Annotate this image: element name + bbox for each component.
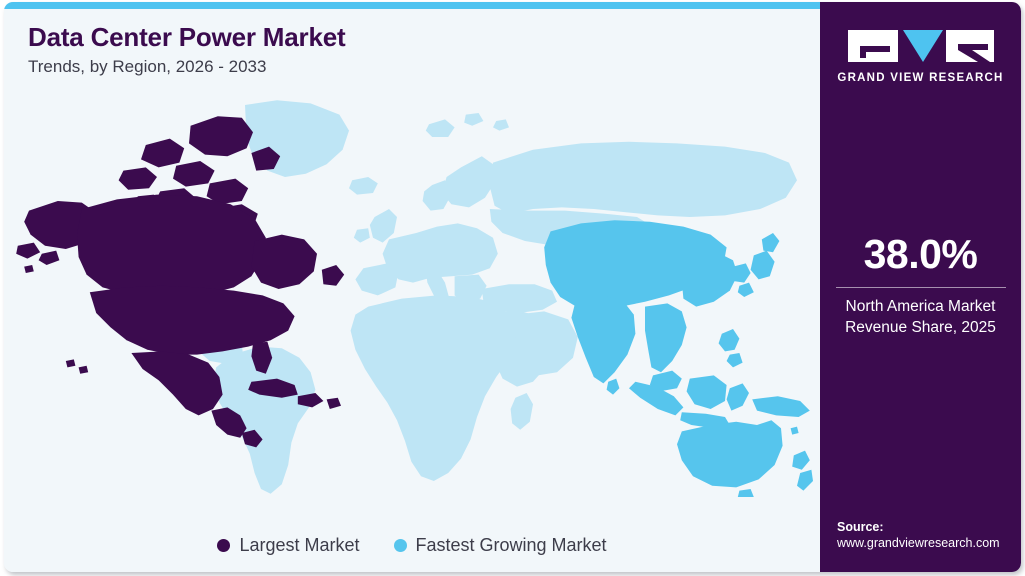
brand-name: GRAND VIEW RESEARCH xyxy=(837,72,1003,84)
source-label: Source: xyxy=(837,520,1017,534)
stat-caption-line1: North America Market xyxy=(820,297,1021,318)
stat-value: 38.0% xyxy=(820,234,1021,275)
legend-label: Fastest Growing Market xyxy=(416,535,607,556)
legend-item-fastest-growing-market[interactable]: Fastest Growing Market xyxy=(394,535,607,556)
stat-block: 38.0% North America Market Revenue Share… xyxy=(820,234,1021,339)
legend-label: Largest Market xyxy=(239,535,359,556)
infographic-card: Data Center Power Market Trends, by Regi… xyxy=(4,2,1021,572)
brand-logo[interactable]: GRAND VIEW RESEARCH xyxy=(820,28,1021,84)
filled-circle-icon xyxy=(394,539,407,552)
top-accent-bar xyxy=(4,2,820,9)
source-block: Source: www.grandviewresearch.com xyxy=(837,520,1017,550)
filled-circle-icon xyxy=(217,539,230,552)
gvr-logo-icon xyxy=(846,28,996,64)
map-pane: Data Center Power Market Trends, by Regi… xyxy=(4,9,820,572)
legend-item-largest-market[interactable]: Largest Market xyxy=(217,535,359,556)
map-region-asia-pacific xyxy=(544,220,813,497)
stat-divider xyxy=(836,287,1006,288)
source-url[interactable]: www.grandviewresearch.com xyxy=(837,536,1017,550)
page-subtitle: Trends, by Region, 2026 - 2033 xyxy=(28,58,788,77)
header-block: Data Center Power Market Trends, by Regi… xyxy=(28,24,788,77)
map-legend: Largest Market Fastest Growing Market xyxy=(4,535,820,556)
world-map xyxy=(10,97,816,497)
side-panel: GRAND VIEW RESEARCH 38.0% North America … xyxy=(820,2,1021,572)
page-title: Data Center Power Market xyxy=(28,24,788,51)
stat-caption-line2: Revenue Share, 2025 xyxy=(820,318,1021,339)
